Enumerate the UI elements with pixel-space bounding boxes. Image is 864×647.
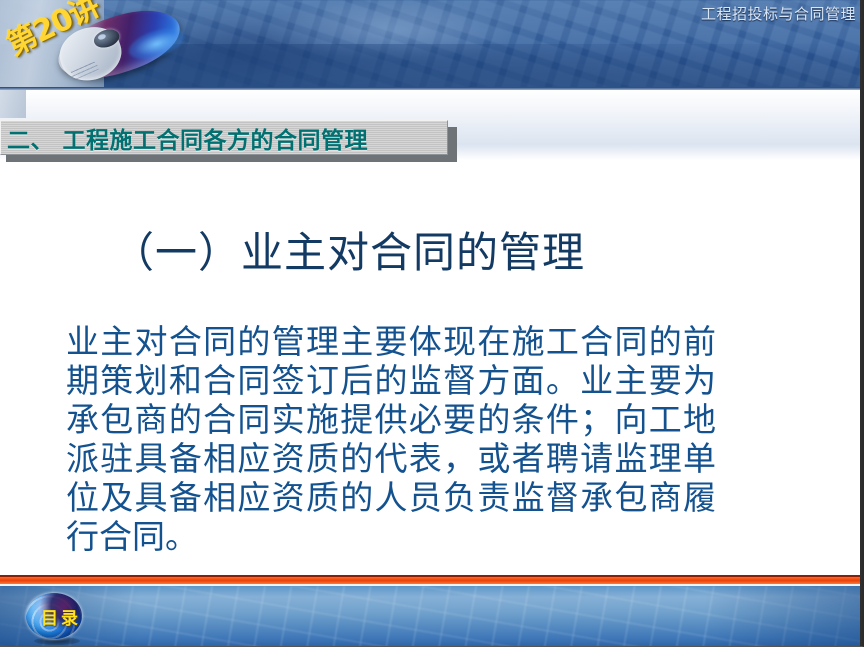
presentation-slide: 第20讲 工程招投标与合同管理 二、 工程施工合同各方的合同管理 （一）业主对合… (0, 0, 864, 647)
footer-accent-rule (0, 577, 864, 584)
table-of-contents-button[interactable]: 目录 (26, 593, 88, 641)
slide-footer: 目录 (0, 575, 864, 647)
header-band-left-cap (0, 90, 26, 118)
section-title-bar-wrapper: 二、 工程施工合同各方的合同管理 (0, 120, 457, 162)
slide-right-edge (860, 0, 862, 647)
table-of-contents-label: 目录 (41, 604, 81, 629)
body-paragraph: 业主对合同的管理主要体现在施工合同的前期策划和合同签订后的监督方面。业主要为承包… (66, 322, 716, 556)
slide-body: （一）业主对合同的管理 业主对合同的管理主要体现在施工合同的前期策划和合同签订后… (0, 170, 864, 565)
course-title: 工程招投标与合同管理 (701, 3, 856, 24)
section-title-label: 二、 工程施工合同各方的合同管理 (1, 121, 368, 155)
page-title: （一）业主对合同的管理 (112, 228, 585, 278)
section-title-bar: 二、 工程施工合同各方的合同管理 (0, 120, 448, 155)
footer-right-shading (704, 586, 864, 647)
slide-header: 第20讲 工程招投标与合同管理 (0, 0, 864, 90)
